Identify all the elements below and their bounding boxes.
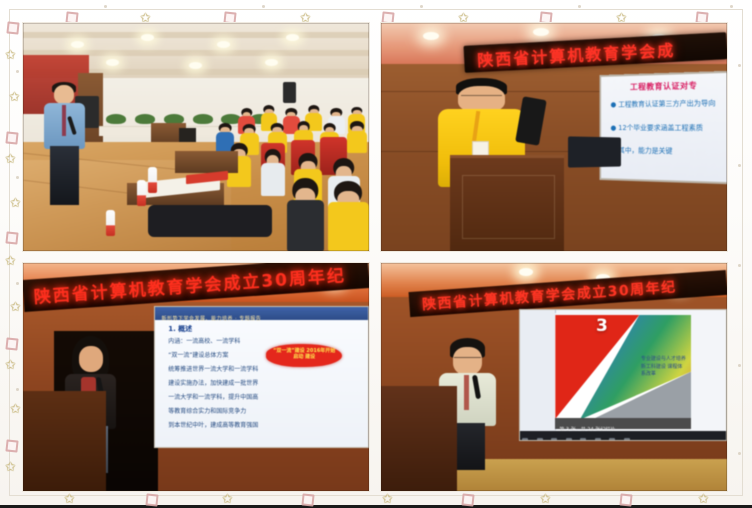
lectern <box>381 386 457 491</box>
photo-bottom-left-scene: 陕西省计算机教育学会成立30周年纪 新形势下学会发展、能力培养 · 专题报告 1… <box>23 263 369 491</box>
ceiling-light <box>189 62 202 69</box>
slide-line: 统筹推进世界一流大学和一流学科 <box>168 366 258 374</box>
taskbar-icon <box>566 438 572 441</box>
ceiling-light <box>533 28 549 36</box>
bag <box>148 205 273 237</box>
audience-member <box>347 121 368 153</box>
photo-bottom-right-scene: 陕西省计算机教育学会成立30周年纪 3 专业建设与人才培养 新工科建设 课程体系… <box>381 263 727 491</box>
photo-top-right-scene: 陕西省计算机教育学会成 工程教育认证对专 ● 工程教育认证第三方产出为导向 ● … <box>381 23 727 251</box>
slide-section-title: 1. 概述 <box>168 324 192 334</box>
powerpoint-slide: 3 专业建设与人才培养 新工科建设 课程体系改革 <box>555 315 691 424</box>
slide-line: 内涵：一流高校、一流学科 <box>168 338 240 346</box>
table <box>175 151 237 174</box>
wall-speaker <box>283 82 297 103</box>
slide-line: 到本世纪中叶，建成高等教育强国 <box>168 422 258 430</box>
slide-side-text: 专业建设与人才培养 新工科建设 课程体系改革 <box>641 356 687 379</box>
taskbar-icon <box>580 438 586 441</box>
slide-line: 建设实施办法，加快建成一批世界 <box>168 380 258 388</box>
slide-bullet: ● 其中，能力是关键 <box>610 146 721 156</box>
taskbar-icon <box>609 438 615 441</box>
photo-grid: 陕西省计算机教育学会成 工程教育认证对专 ● 工程教育认证第三方产出为导向 ● … <box>22 22 728 492</box>
screen-left-margin <box>520 310 556 440</box>
badge <box>472 141 488 156</box>
slide-line: 等教育综合实力和国际竞争力 <box>168 408 246 416</box>
water-bottle <box>148 167 157 193</box>
water-bottle <box>137 180 146 206</box>
taskbar-icon <box>551 438 557 441</box>
face <box>79 346 104 372</box>
head <box>54 85 74 104</box>
tie <box>62 105 66 136</box>
glasses <box>454 357 481 363</box>
slide-line: “双一流”建设总体方案 <box>168 352 228 360</box>
podium <box>450 155 564 251</box>
water-bottle <box>106 210 115 236</box>
slide-bullet: ● 12个毕业要求涵盖工程素质 <box>610 124 721 133</box>
slide-highlight-callout: “双一流”建设 2016年开始启动 建设 <box>266 344 343 368</box>
glasses <box>461 95 502 101</box>
plant <box>106 114 126 124</box>
slide-number: 3 <box>596 318 608 335</box>
audience-member <box>287 178 324 251</box>
photo-top-right[interactable]: 陕西省计算机教育学会成 工程教育认证对专 ● 工程教育认证第三方产出为导向 ● … <box>380 22 728 252</box>
lectern <box>23 391 106 491</box>
ceiling-beam <box>23 32 369 38</box>
slide-highlight-text: “双一流”建设 2016年开始启动 建设 <box>272 348 336 361</box>
projection-screen: 工程教育认证对专 ● 工程教育认证第三方产出为导向 ● 12个毕业要求涵盖工程素… <box>599 71 727 185</box>
projection-screen: 新形势下学会发展、能力培养 · 专题报告 1. 概述 内涵：一流高校、一流学科 … <box>154 306 369 447</box>
slide-status-bar: 第 3 张，共 24 张幻灯片 <box>555 418 691 430</box>
taskbar-icon <box>522 438 528 441</box>
audience-member <box>261 149 285 196</box>
slide-line: 一流大学和一流学科，提升中国高 <box>168 394 258 402</box>
ceiling-light <box>519 268 533 276</box>
audience-member <box>328 181 369 251</box>
taskbar-icon <box>595 438 601 441</box>
tie <box>464 375 470 409</box>
slide-title: 工程教育认证对专 <box>610 80 719 94</box>
speaker-figure <box>40 85 88 206</box>
photo-bottom-right[interactable]: 陕西省计算机教育学会成立30周年纪 3 专业建设与人才培养 新工科建设 课程体系… <box>380 262 728 492</box>
photo-top-left-scene <box>23 23 369 251</box>
ceiling-light <box>423 32 439 40</box>
taskbar-icon <box>624 438 630 441</box>
taskbar <box>520 431 726 440</box>
taskbar-icon <box>537 438 543 441</box>
photo-top-left[interactable] <box>22 22 370 252</box>
photo-collage: ✩ ✩ ✩ ✩ ✩ ✩ ✩ ✩ ✩ ✩ ✩ ✩ ✩ ✩ ✩ ✩ ✩ ✩ <box>0 0 752 508</box>
laptop <box>568 136 621 167</box>
slide-header-bar: 新形势下学会发展、能力培养 · 专题报告 <box>155 307 368 320</box>
photo-bottom-left[interactable]: 陕西省计算机教育学会成立30周年纪 新形势下学会发展、能力培养 · 专题报告 1… <box>22 262 370 492</box>
trousers <box>50 146 79 205</box>
slide-bullet: ● 工程教育认证第三方产出为导向 <box>610 99 721 109</box>
projection-screen: 3 专业建设与人才培养 新工科建设 课程体系改革 第 3 张，共 24 张幻灯片 <box>519 309 727 441</box>
slide-header-text: 新形势下学会发展、能力培养 · 专题报告 <box>155 316 261 322</box>
